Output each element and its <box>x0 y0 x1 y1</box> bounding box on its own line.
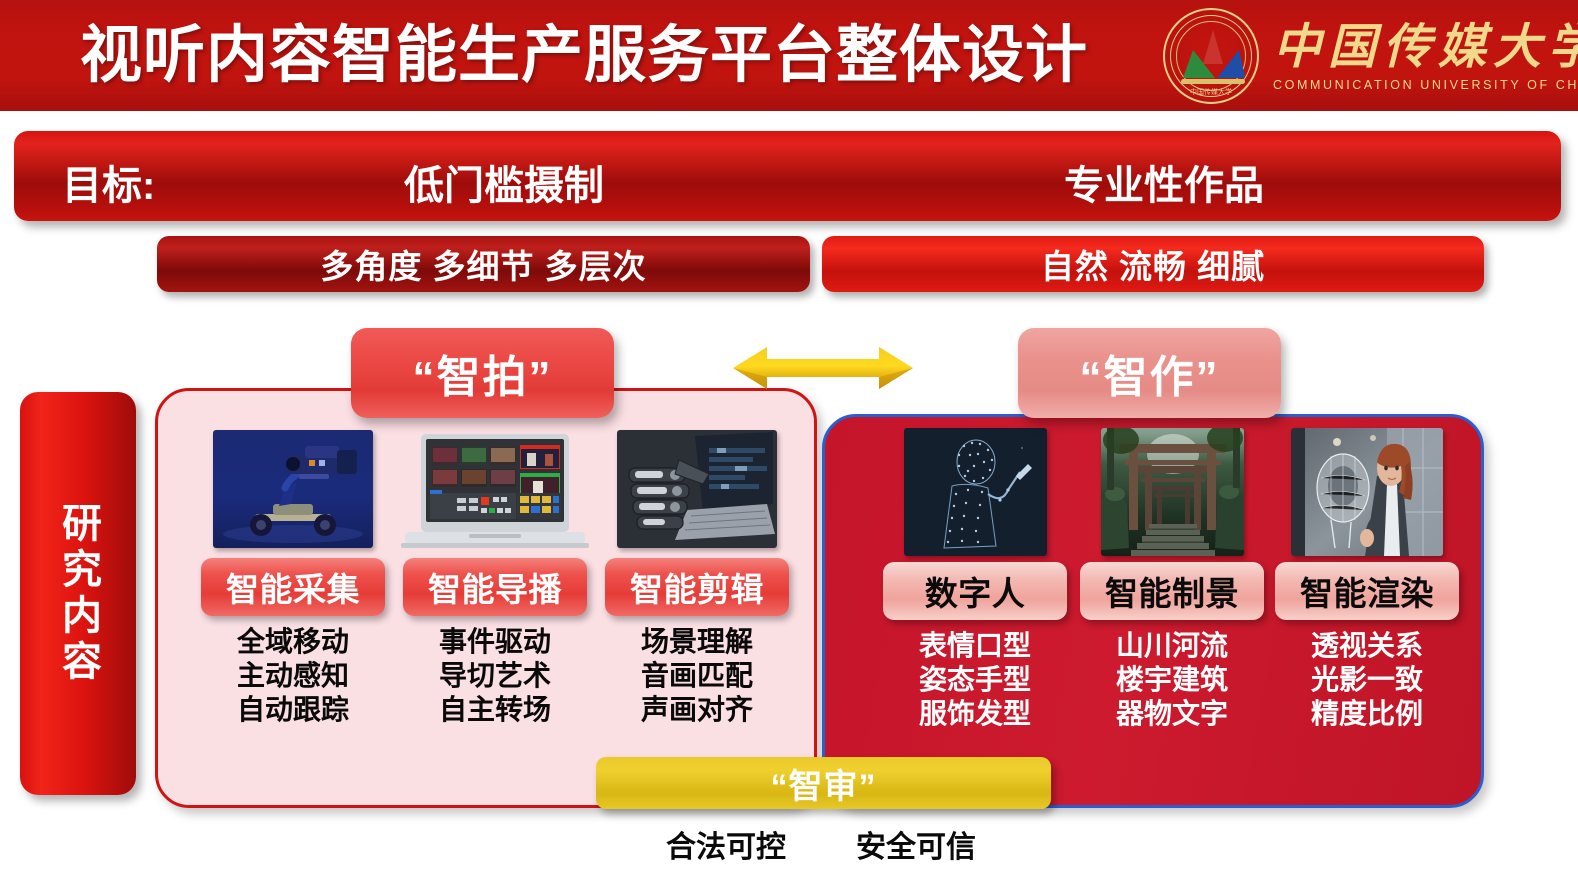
column-digital-human: 数字人 表情口型 姿态手型 服饰发型 <box>880 428 1070 731</box>
audit-item-1: 合法可控 <box>666 822 786 866</box>
goal-right-text: 专业性作品 <box>1064 153 1264 211</box>
feature-item: 导切艺术 <box>439 659 551 693</box>
column-scene-generation: 智能制景 山川河流 楼宇建筑 器物文字 <box>1077 428 1267 731</box>
feature-item: 事件驱动 <box>439 625 551 659</box>
tag-intelligent-rendering[interactable]: 智能渲染 <box>1275 562 1459 620</box>
title-bar: 视听内容智能生产服务平台整体设计 中国传媒大学 中国传媒大学 COMMUNICA… <box>0 0 1578 111</box>
feature-item: 姿态手型 <box>919 663 1031 697</box>
tag-label: 智能渲染 <box>1300 567 1434 615</box>
goal-left-text: 低门槛摄制 <box>404 153 604 211</box>
thumb-robot-hand-editing <box>617 430 777 548</box>
audit-bar-label: “智审” <box>771 759 877 808</box>
logo-name-en: COMMUNICATION UNIVERSITY OF CHINA <box>1273 78 1578 92</box>
feature-item: 主动感知 <box>237 659 349 693</box>
attribute-bar-right-label: 自然 流畅 细腻 <box>1041 240 1265 288</box>
feature-item: 场景理解 <box>641 625 753 659</box>
attribute-bar-left: 多角度 多细节 多层次 <box>157 236 810 292</box>
features-intelligent-capture: 全域移动 主动感知 自动跟踪 <box>237 625 349 727</box>
column-intelligent-editing: 智能剪辑 场景理解 音画匹配 声画对齐 <box>602 430 792 727</box>
thumb-laptop-broadcast-switcher <box>399 430 591 554</box>
chip-zhipai[interactable]: “智拍” <box>351 328 614 418</box>
column-intelligent-capture: 智能采集 全域移动 主动感知 自动跟踪 <box>198 430 388 727</box>
university-logo: 中国传媒大学 中国传媒大学 COMMUNICATION UNIVERSITY O… <box>1163 6 1563 106</box>
chip-zhizuo[interactable]: “智作” <box>1018 328 1281 418</box>
tag-label: 智能导播 <box>428 563 562 611</box>
audit-bar[interactable]: “智审” <box>596 757 1051 809</box>
tag-label: 数字人 <box>925 567 1026 615</box>
tag-intelligent-editing[interactable]: 智能剪辑 <box>605 558 789 616</box>
goal-bar: 目标: 低门槛摄制 专业性作品 <box>14 131 1561 221</box>
tag-digital-human[interactable]: 数字人 <box>883 562 1067 620</box>
double-headed-arrow-icon <box>733 344 913 392</box>
logo-name-cn: 中国传媒大学 <box>1273 21 1578 75</box>
slide-root: 视听内容智能生产服务平台整体设计 中国传媒大学 中国传媒大学 COMMUNICA… <box>0 0 1578 881</box>
audit-item-2: 安全可信 <box>856 822 976 866</box>
tag-intelligent-capture[interactable]: 智能采集 <box>201 558 385 616</box>
thumb-hologram-face-render <box>1291 428 1443 556</box>
research-content-bar: 研究内容 <box>20 392 136 795</box>
goal-label: 目标: <box>62 153 155 211</box>
features-scene-generation: 山川河流 楼宇建筑 器物文字 <box>1116 629 1228 731</box>
feature-item: 服饰发型 <box>919 697 1031 731</box>
feature-item: 声画对齐 <box>641 693 753 727</box>
thumb-camera-robot-dolly <box>213 430 373 548</box>
features-digital-human: 表情口型 姿态手型 服饰发型 <box>919 629 1031 731</box>
attribute-bar-right: 自然 流畅 细腻 <box>822 236 1484 292</box>
tag-scene-generation[interactable]: 智能制景 <box>1080 562 1264 620</box>
column-intelligent-directing: 智能导播 事件驱动 导切艺术 自主转场 <box>400 430 590 727</box>
tag-label: 智能制景 <box>1105 567 1239 615</box>
page-title: 视听内容智能生产服务平台整体设计 <box>80 8 1088 104</box>
research-content-label: 研究内容 <box>51 502 105 686</box>
feature-item: 楼宇建筑 <box>1116 663 1228 697</box>
tag-intelligent-directing[interactable]: 智能导播 <box>403 558 587 616</box>
feature-item: 光影一致 <box>1311 663 1423 697</box>
feature-item: 全域移动 <box>237 625 349 659</box>
tag-label: 智能剪辑 <box>630 563 764 611</box>
emblem-label: 中国传媒大学 <box>1165 87 1257 97</box>
feature-item: 器物文字 <box>1116 697 1228 731</box>
features-intelligent-editing: 场景理解 音画匹配 声画对齐 <box>641 625 753 727</box>
feature-item: 自主转场 <box>439 693 551 727</box>
features-intelligent-directing: 事件驱动 导切艺术 自主转场 <box>439 625 551 727</box>
feature-item: 表情口型 <box>919 629 1031 663</box>
feature-item: 自动跟踪 <box>237 693 349 727</box>
feature-item: 透视关系 <box>1311 629 1423 663</box>
thumb-wireframe-digital-human <box>904 428 1047 556</box>
feature-item: 山川河流 <box>1116 629 1228 663</box>
features-intelligent-rendering: 透视关系 光影一致 精度比例 <box>1311 629 1423 731</box>
chip-zhizuo-label: “智作” <box>1080 341 1220 405</box>
university-emblem-icon: 中国传媒大学 <box>1163 8 1259 104</box>
attribute-bar-left-label: 多角度 多细节 多层次 <box>320 240 646 288</box>
thumb-forest-torii-scene <box>1101 428 1244 556</box>
column-intelligent-rendering: 智能渲染 透视关系 光影一致 精度比例 <box>1272 428 1462 731</box>
feature-item: 音画匹配 <box>641 659 753 693</box>
chip-zhipai-label: “智拍” <box>413 341 553 405</box>
feature-item: 精度比例 <box>1311 697 1423 731</box>
tag-label: 智能采集 <box>226 563 360 611</box>
